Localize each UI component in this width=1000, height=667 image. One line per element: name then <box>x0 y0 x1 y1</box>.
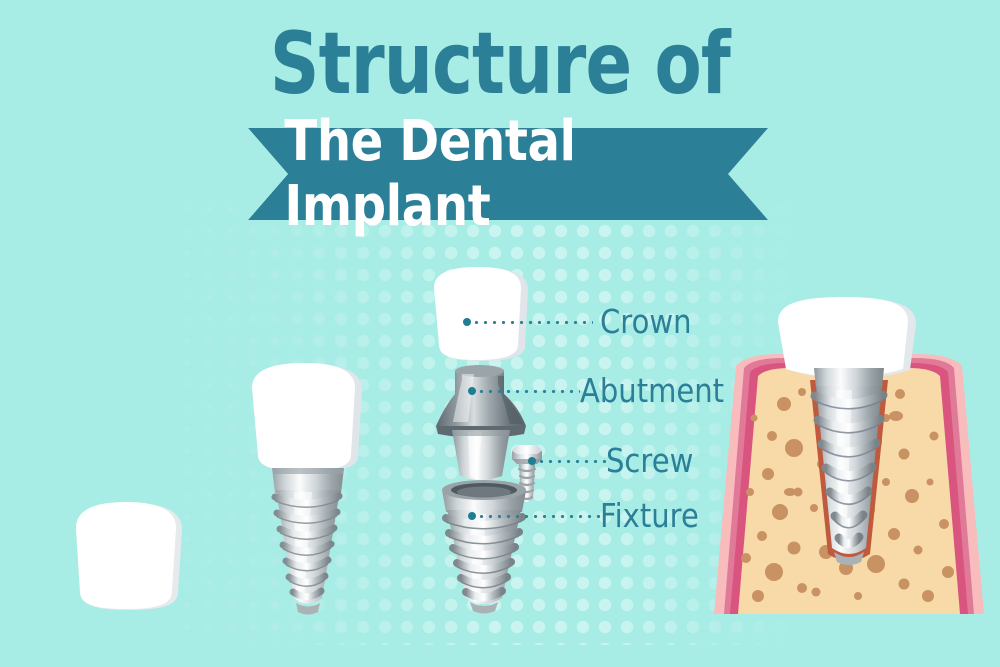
exploded-fixture <box>430 476 538 618</box>
ribbon-title: The Dental Implant <box>284 128 731 220</box>
leader-line-screw <box>528 457 606 465</box>
leader-dot-abutment <box>468 387 476 395</box>
label-crown: Crown <box>600 302 692 341</box>
leader-dash-abutment <box>477 390 580 394</box>
page-title: Structure of <box>100 18 900 110</box>
leader-dash-fixture <box>477 515 600 519</box>
assembled-dental-implant <box>238 360 378 622</box>
label-screw: Screw <box>606 441 693 480</box>
leader-line-crown <box>463 318 593 326</box>
leader-dot-screw <box>528 457 536 465</box>
leader-dot-crown <box>463 318 471 326</box>
label-fixture: Fixture <box>600 496 699 535</box>
leader-dot-fixture <box>468 512 476 520</box>
label-abutment: Abutment <box>580 371 724 410</box>
implant-in-jawbone-cross-section <box>698 296 1000 618</box>
exploded-crown <box>424 264 540 370</box>
single-tooth-crown <box>64 496 194 616</box>
leader-dash-screw <box>537 460 606 464</box>
infographic-canvas: Structure of The Dental Implant <box>0 0 1000 667</box>
title-block: Structure of <box>0 18 1000 110</box>
leader-line-fixture <box>468 512 600 520</box>
leader-dash-crown <box>472 321 593 325</box>
ribbon-banner: The Dental Implant <box>248 128 768 220</box>
leader-line-abutment <box>468 387 580 395</box>
